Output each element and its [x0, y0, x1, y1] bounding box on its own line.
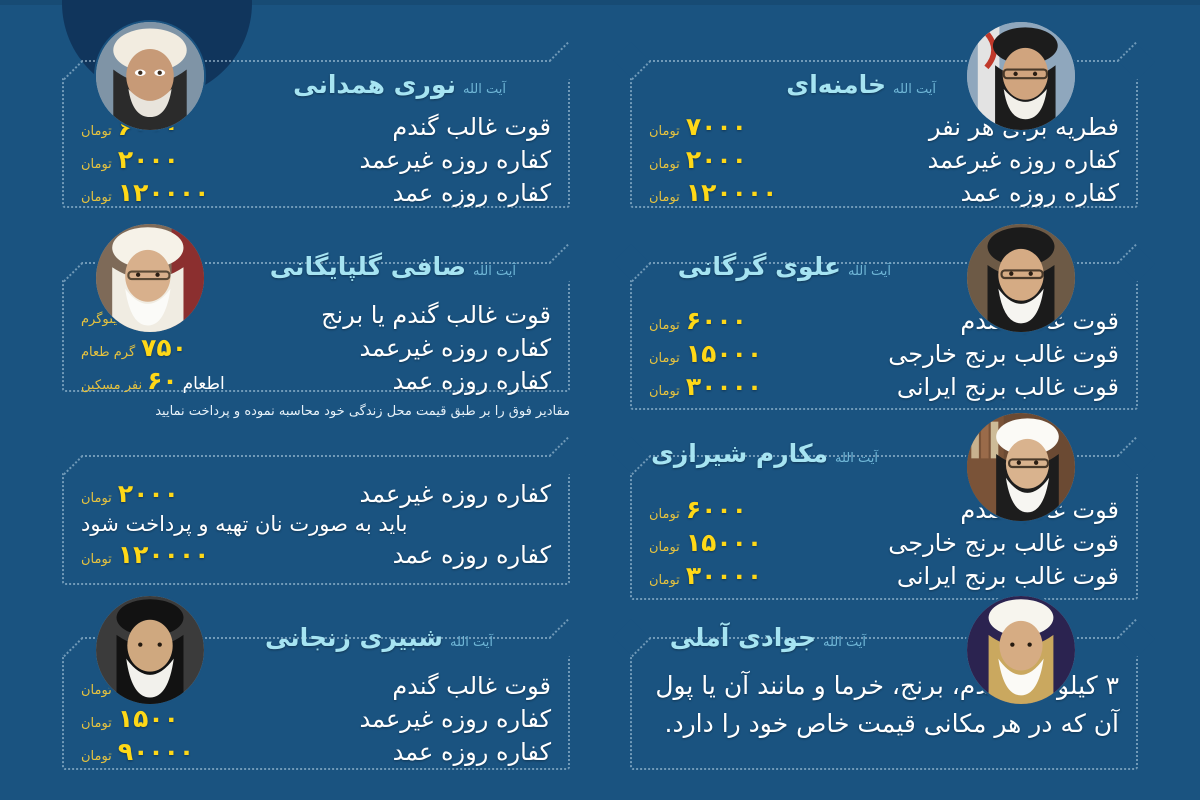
row-unit: تومان [81, 716, 112, 731]
row-unit: تومان [81, 190, 112, 205]
notch-corner [1117, 42, 1155, 80]
table-row: قوت غالب برنج خارجی ۱۵۰۰۰ تومان [649, 339, 1119, 368]
card-bread-payment[interactable]: کفاره روزه غیرعمد ۲۰۰۰ تومان باید به صور… [62, 455, 570, 585]
row-label: کفاره روزه غیرعمد [360, 705, 551, 733]
ayatollah-prefix: آیت الله [473, 264, 516, 279]
row-value: اطعام ۶۰ نفر مسکین [81, 366, 225, 395]
notch-corner [45, 437, 83, 475]
row-value: ۶۰۰۰ تومان [649, 306, 747, 335]
row-label: قوت غالب برنج ایرانی [897, 373, 1119, 401]
card-header-alavi-gorgani: آیت الله علوی گرگانی [678, 252, 891, 281]
notch-corner [45, 619, 83, 657]
row-value: ۲۰۰۰ تومان [81, 145, 179, 174]
ayatollah-prefix: آیت الله [835, 451, 878, 466]
ayatollah-name: نوری همدانی [293, 70, 456, 99]
row-unit: تومان [81, 683, 112, 698]
avatar-javadi-amoli [967, 596, 1075, 704]
row-unit: گرم طعام [81, 345, 135, 360]
infographic-stage: آیت الله نوری همدانی قوت غالب گندم ۶۰۰۰ … [0, 0, 1200, 800]
avatar-khamenei [967, 22, 1075, 130]
avatar-nouri-hamedani [96, 22, 204, 130]
row-amount: ۷۰۰۰ [686, 112, 747, 141]
notch-corner [1117, 619, 1155, 657]
row-extra-label: اطعام [183, 374, 225, 394]
row-label: کفاره روزه عمد [393, 738, 551, 766]
row-amount: ۶۰۰۰ [686, 306, 747, 335]
row-amount: ۶۰۰۰ [686, 495, 747, 524]
row-value: ۱۵۰۰۰ تومان [649, 339, 762, 368]
ayatollah-prefix: آیت الله [823, 635, 866, 650]
row-amount: ۲۰۰۰ [118, 479, 179, 508]
notch-corner [549, 42, 587, 80]
row-amount: ۷۵۰ [141, 333, 187, 362]
card-header-shobeiri-zanjani: آیت الله شبیری زنجانی [265, 623, 493, 652]
rows-khamenei: فطریه برای هر نفر ۷۰۰۰ تومان کفاره روزه … [649, 112, 1119, 211]
table-row: قوت غالب برنج ایرانی ۳۰۰۰۰ تومان [649, 372, 1119, 401]
row-unit: تومان [649, 540, 680, 555]
ayatollah-prefix: آیت الله [463, 82, 506, 97]
row-label: کفاره روزه عمد [393, 541, 551, 569]
row-label: کفاره روزه عمد [393, 367, 551, 395]
notch-corner [549, 244, 587, 282]
notch-corner [549, 437, 587, 475]
rows-bread-payment: کفاره روزه غیرعمد ۲۰۰۰ تومان باید به صور… [81, 479, 551, 573]
notch-corner [613, 244, 651, 282]
table-row: کفاره روزه عمد ۱۲۰۰۰۰ تومان [81, 178, 551, 207]
row-amount: ۱۲۰۰۰۰ [118, 540, 210, 569]
row-amount: ۹۰۰۰۰ [118, 737, 194, 766]
row-label: قوت غالب گندم [392, 672, 551, 700]
row-label: قوت غالب گندم یا برنج [321, 301, 551, 329]
row-amount: ۱۲۰۰۰۰ [118, 178, 210, 207]
table-row: کفاره روزه غیرعمد ۲۰۰۰ تومان [81, 479, 551, 508]
card-header-javadi-amoli: آیت الله جوادی آملی [670, 623, 866, 652]
row-unit: تومان [649, 384, 680, 399]
row-unit: تومان [649, 124, 680, 139]
avatar-makarem-shirazi [967, 413, 1075, 521]
row-label: کفاره روزه غیرعمد [360, 480, 551, 508]
table-row: کفاره روزه غیرعمد ۲۰۰۰ تومان [81, 145, 551, 174]
row-unit: تومان [649, 190, 680, 205]
row-amount: ۲۰۰۰ [118, 145, 179, 174]
row-value: ۷۵۰ گرم طعام [81, 333, 187, 362]
row-amount: ۶۰ [147, 366, 178, 395]
bread-note: باید به صورت نان تهیه و پرداخت شود [81, 512, 551, 536]
notch-corner [1117, 244, 1155, 282]
row-value: ۱۲۰۰۰۰ تومان [81, 540, 209, 569]
row-value: ۱۵۰۰۰ تومان [649, 528, 762, 557]
ayatollah-name: شبیری زنجانی [265, 623, 443, 652]
row-value: ۶۰۰۰ تومان [649, 495, 747, 524]
avatar-safi-golpayegani [96, 224, 204, 332]
avatar-shobeiri-zanjani [96, 596, 204, 704]
row-value: ۷۰۰۰ تومان [649, 112, 747, 141]
row-amount: ۳۰۰۰۰ [686, 561, 762, 590]
row-unit: تومان [649, 507, 680, 522]
row-value: ۲۰۰۰ تومان [649, 145, 747, 174]
notch-corner [45, 244, 83, 282]
row-value: ۲۰۰۰ تومان [81, 479, 179, 508]
row-value: ۱۲۰۰۰۰ تومان [649, 178, 777, 207]
row-value: ۱۵۰۰ تومان [81, 704, 179, 733]
table-row: کفاره روزه عمد ۱۲۰۰۰۰ تومان [81, 540, 551, 569]
ayatollah-name: صافی گلپایگانی [270, 252, 466, 281]
row-amount: ۱۵۰۰۰ [686, 528, 762, 557]
row-value: ۱۲۰۰۰۰ تومان [81, 178, 209, 207]
row-unit: تومان [649, 573, 680, 588]
ayatollah-name: جوادی آملی [670, 623, 816, 652]
row-label: کفاره روزه عمد [961, 179, 1119, 207]
table-row: کفاره روزه غیرعمد ۱۵۰۰ تومان [81, 704, 551, 733]
row-label: کفاره روزه غیرعمد [360, 334, 551, 362]
row-amount: ۱۵۰۰۰ [686, 339, 762, 368]
notch-corner [549, 619, 587, 657]
row-unit: تومان [81, 552, 112, 567]
table-row: کفاره روزه غیرعمد ۲۰۰۰ تومان [649, 145, 1119, 174]
ayatollah-prefix: آیت الله [450, 635, 493, 650]
notch-corner [613, 42, 651, 80]
row-label: کفاره روزه غیرعمد [928, 146, 1119, 174]
row-unit: تومان [81, 749, 112, 764]
footnote-safi-golpayegani: مقادیر فوق را بر طبق قیمت محل زندگی خود … [70, 404, 570, 419]
row-unit: تومان [649, 318, 680, 333]
table-row: قوت غالب برنج خارجی ۱۵۰۰۰ تومان [649, 528, 1119, 557]
avatar-alavi-gorgani [967, 224, 1075, 332]
table-row: کفاره روزه عمد ۹۰۰۰۰ تومان [81, 737, 551, 766]
ayatollah-name: علوی گرگانی [678, 252, 841, 281]
card-header-nouri-hamedani: آیت الله نوری همدانی [293, 70, 506, 99]
table-row: کفاره روزه غیرعمد ۷۵۰ گرم طعام [81, 333, 551, 362]
row-value: ۳۰۰۰۰ تومان [649, 561, 762, 590]
row-value: ۹۰۰۰۰ تومان [81, 737, 194, 766]
row-amount: ۱۲۰۰۰۰ [686, 178, 778, 207]
row-label: قوت غالب گندم [392, 113, 551, 141]
row-amount: ۲۰۰۰ [686, 145, 747, 174]
row-label: قوت غالب برنج خارجی [888, 529, 1119, 557]
row-value: ۳۰۰۰۰ تومان [649, 372, 762, 401]
card-header-khamenei: آیت الله خامنه‌ای [786, 70, 936, 99]
table-row: کفاره روزه عمد ۱۲۰۰۰۰ تومان [649, 178, 1119, 207]
row-amount: ۱۵۰۰ [118, 704, 179, 733]
ayatollah-name: خامنه‌ای [786, 70, 886, 99]
ayatollah-name: مکارم شیرازی [651, 439, 828, 468]
row-unit: تومان [81, 124, 112, 139]
table-row: کفاره روزه عمد اطعام ۶۰ نفر مسکین [81, 366, 551, 395]
table-row: قوت غالب برنج ایرانی ۳۰۰۰۰ تومان [649, 561, 1119, 590]
card-header-safi-golpayegani: آیت الله صافی گلپایگانی [270, 252, 516, 281]
row-unit: نفر مسکین [81, 378, 142, 393]
row-unit: تومان [81, 491, 112, 506]
row-amount: ۳۰۰۰۰ [686, 372, 762, 401]
notch-corner [613, 437, 651, 475]
row-label: قوت غالب برنج ایرانی [897, 562, 1119, 590]
notch-corner [1117, 437, 1155, 475]
row-unit: تومان [649, 351, 680, 366]
row-label: کفاره روزه عمد [393, 179, 551, 207]
row-unit: تومان [81, 157, 112, 172]
notch-corner [613, 619, 651, 657]
ayatollah-prefix: آیت الله [893, 82, 936, 97]
row-unit: تومان [649, 157, 680, 172]
row-label: کفاره روزه غیرعمد [360, 146, 551, 174]
row-label: قوت غالب برنج خارجی [888, 340, 1119, 368]
ayatollah-prefix: آیت الله [848, 264, 891, 279]
card-header-makarem-shirazi: آیت الله مکارم شیرازی [651, 439, 878, 468]
